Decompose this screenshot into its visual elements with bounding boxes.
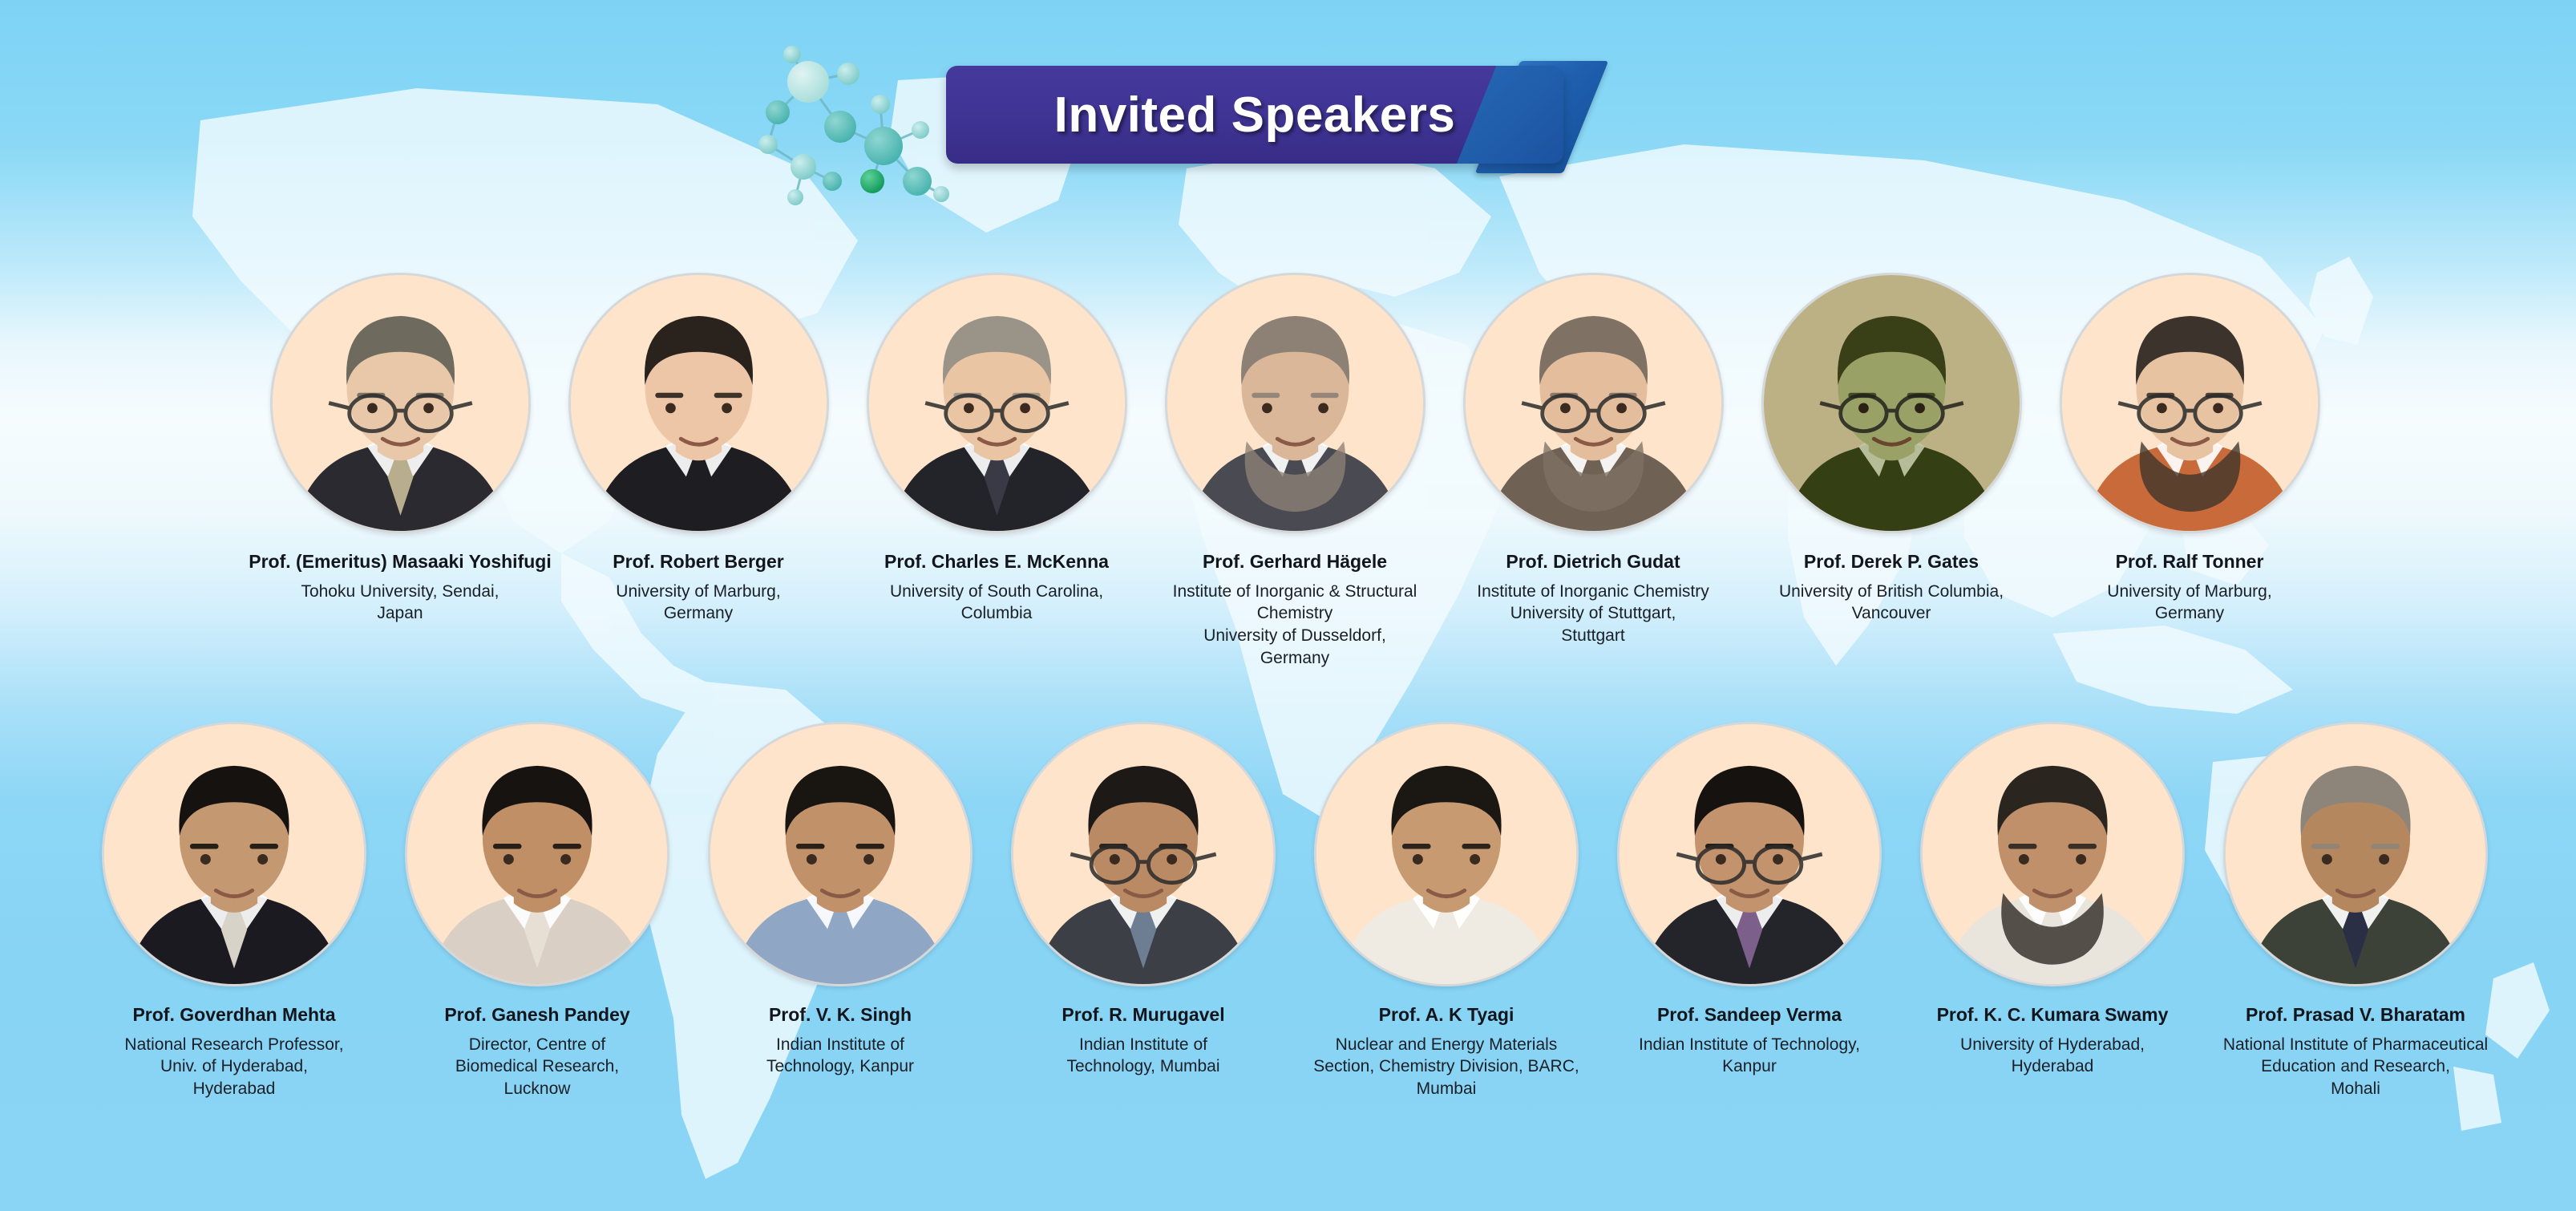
speaker-photo xyxy=(2060,273,2320,533)
speaker-photo xyxy=(708,722,973,986)
speaker-photo xyxy=(1761,273,2022,533)
speaker-affiliation-line: Vancouver xyxy=(1779,602,2004,625)
banner-body: Invited Speakers xyxy=(946,66,1563,164)
speaker-name: Prof. Ralf Tonner xyxy=(2116,551,2264,573)
speaker-name: Prof. Goverdhan Mehta xyxy=(132,1004,335,1027)
speaker-affiliation-line: Chemistry xyxy=(1173,602,1417,625)
speaker-photo xyxy=(1165,273,1425,533)
speaker-affiliation-line: Hyderabad xyxy=(124,1078,343,1100)
page-title: Invited Speakers xyxy=(1054,87,1456,144)
speaker-affiliation-line: University of Dusseldorf, xyxy=(1173,625,1417,647)
speaker-affiliation-line: National Research Professor, xyxy=(124,1034,343,1056)
speaker-affiliation: Tohoku University, Sendai,Japan xyxy=(301,581,499,625)
speaker-name: Prof. Dietrich Gudat xyxy=(1506,551,1680,573)
speaker-photo xyxy=(1617,722,1882,986)
speaker-affiliation-line: University of Stuttgart, xyxy=(1477,602,1709,625)
speaker-affiliation-line: University of Hyderabad, xyxy=(1960,1034,2145,1056)
speaker-photo xyxy=(270,273,531,533)
speaker-affiliation: Indian Institute ofTechnology, Kanpur xyxy=(766,1034,914,1078)
speaker-affiliation: National Research Professor,Univ. of Hyd… xyxy=(124,1034,343,1100)
speaker-photo xyxy=(568,273,829,533)
speaker-affiliation-line: Mohali xyxy=(2223,1078,2488,1100)
speaker-affiliation-line: Indian Institute of xyxy=(1066,1034,1219,1056)
speaker-photo xyxy=(102,722,366,986)
molecule-icon xyxy=(746,24,954,233)
speaker-name: Prof. V. K. Singh xyxy=(769,1004,912,1027)
speaker-photo xyxy=(1011,722,1276,986)
speaker-card: Prof. A. K TyagiNuclear and Energy Mater… xyxy=(1300,722,1593,1100)
speaker-name: Prof. Sandeep Verma xyxy=(1657,1004,1842,1027)
speaker-affiliation-line: Education and Research, xyxy=(2223,1055,2488,1078)
speaker-affiliation: Nuclear and Energy MaterialsSection, Che… xyxy=(1313,1034,1579,1100)
speaker-card: Prof. Derek P. GatesUniversity of Britis… xyxy=(1751,273,2032,625)
speaker-affiliation-line: Technology, Kanpur xyxy=(766,1055,914,1078)
speaker-photo xyxy=(867,273,1127,533)
speaker-affiliation-line: Indian Institute of xyxy=(766,1034,914,1056)
speaker-name: Prof. A. K Tyagi xyxy=(1379,1004,1514,1027)
speaker-photo xyxy=(1314,722,1579,986)
speaker-row-2: Prof. Goverdhan MehtaNational Research P… xyxy=(72,722,2517,1100)
speaker-affiliation-line: National Institute of Pharmaceutical xyxy=(2223,1034,2488,1056)
speaker-photo xyxy=(405,722,669,986)
speaker-affiliation-line: Institute of Inorganic Chemistry xyxy=(1477,581,1709,603)
speaker-card: Prof. Charles E. McKennaUniversity of So… xyxy=(856,273,1137,625)
speaker-name: Prof. Charles E. McKenna xyxy=(884,551,1109,573)
speaker-card: Prof. Goverdhan MehtaNational Research P… xyxy=(87,722,381,1100)
speaker-affiliation-line: Mumbai xyxy=(1313,1078,1579,1100)
speaker-name: Prof. K. C. Kumara Swamy xyxy=(1937,1004,2169,1027)
speaker-affiliation-line: Tohoku University, Sendai, xyxy=(301,581,499,603)
speaker-name: Prof. Ganesh Pandey xyxy=(444,1004,629,1027)
speaker-affiliation: University of Hyderabad,Hyderabad xyxy=(1960,1034,2145,1078)
speaker-affiliation-line: Germany xyxy=(1173,647,1417,670)
speaker-card: Prof. (Emeritus) Masaaki YoshifugiTohoku… xyxy=(260,273,540,625)
speaker-affiliation-line: Stuttgart xyxy=(1477,625,1709,647)
speaker-card: Prof. Ganesh PandeyDirector, Centre ofBi… xyxy=(390,722,684,1100)
speaker-affiliation-line: Section, Chemistry Division, BARC, xyxy=(1313,1055,1579,1078)
speaker-card: Prof. Prasad V. BharatamNational Institu… xyxy=(2209,722,2502,1100)
speaker-affiliation-line: Lucknow xyxy=(455,1078,619,1100)
speaker-name: Prof. Prasad V. Bharatam xyxy=(2246,1004,2465,1027)
speaker-affiliation-line: University of British Columbia, xyxy=(1779,581,2004,603)
speaker-name: Prof. (Emeritus) Masaaki Yoshifugi xyxy=(249,551,551,573)
speaker-card: Prof. R. MurugavelIndian Institute ofTec… xyxy=(997,722,1290,1078)
page-title-banner: Invited Speakers xyxy=(946,66,1579,164)
speaker-affiliation-line: University of South Carolina, xyxy=(890,581,1103,603)
speaker-photo xyxy=(1463,273,1724,533)
speaker-affiliation-line: Germany xyxy=(616,602,780,625)
speaker-affiliation-line: Hyderabad xyxy=(1960,1055,2145,1078)
speaker-affiliation-line: Indian Institute of Technology, xyxy=(1639,1034,1860,1056)
speaker-affiliation-line: Kanpur xyxy=(1639,1055,1860,1078)
speaker-name: Prof. Robert Berger xyxy=(613,551,783,573)
speaker-card: Prof. Sandeep VermaIndian Institute of T… xyxy=(1603,722,1896,1078)
speaker-affiliation: University of South Carolina,Columbia xyxy=(890,581,1103,625)
speaker-affiliation: University of Marburg,Germany xyxy=(2107,581,2271,625)
speaker-affiliation-line: Biomedical Research, xyxy=(455,1055,619,1078)
speaker-card: Prof. Ralf TonnerUniversity of Marburg,G… xyxy=(2049,273,2330,625)
speaker-affiliation: Director, Centre ofBiomedical Research,L… xyxy=(455,1034,619,1100)
speaker-affiliation-line: Univ. of Hyderabad, xyxy=(124,1055,343,1078)
speaker-affiliation-line: Germany xyxy=(2107,602,2271,625)
speaker-affiliation-line: Technology, Mumbai xyxy=(1066,1055,1219,1078)
speaker-photo xyxy=(2223,722,2488,986)
speaker-affiliation: National Institute of PharmaceuticalEduc… xyxy=(2223,1034,2488,1100)
speaker-affiliation-line: University of Marburg, xyxy=(616,581,780,603)
speaker-name: Prof. Gerhard Hägele xyxy=(1203,551,1387,573)
speaker-affiliation-line: Nuclear and Energy Materials xyxy=(1313,1034,1579,1056)
speaker-affiliation: Indian Institute ofTechnology, Mumbai xyxy=(1066,1034,1219,1078)
invited-speakers-poster: Invited Speakers xyxy=(0,0,2576,1211)
speaker-name: Prof. Derek P. Gates xyxy=(1804,551,1979,573)
speaker-affiliation: Indian Institute of Technology,Kanpur xyxy=(1639,1034,1860,1078)
speaker-name: Prof. R. Murugavel xyxy=(1062,1004,1224,1027)
speaker-card: Prof. Dietrich GudatInstitute of Inorgan… xyxy=(1453,273,1733,647)
speaker-affiliation: University of Marburg,Germany xyxy=(616,581,780,625)
speaker-card: Prof. Gerhard HägeleInstitute of Inorgan… xyxy=(1155,273,1435,669)
speaker-card: Prof. V. K. SinghIndian Institute ofTech… xyxy=(694,722,987,1078)
speaker-affiliation-line: Japan xyxy=(301,602,499,625)
speaker-photo xyxy=(1920,722,2185,986)
speaker-row-1: Prof. (Emeritus) Masaaki YoshifugiTohoku… xyxy=(144,273,2445,669)
speaker-affiliation: University of British Columbia,Vancouver xyxy=(1779,581,2004,625)
speaker-affiliation: Institute of Inorganic ChemistryUniversi… xyxy=(1477,581,1709,647)
speaker-affiliation-line: University of Marburg, xyxy=(2107,581,2271,603)
speaker-affiliation-line: Columbia xyxy=(890,602,1103,625)
speaker-affiliation-line: Institute of Inorganic & Structural xyxy=(1173,581,1417,603)
speaker-card: Prof. Robert BergerUniversity of Marburg… xyxy=(558,273,839,625)
speaker-affiliation: Institute of Inorganic & StructuralChemi… xyxy=(1173,581,1417,670)
speaker-affiliation-line: Director, Centre of xyxy=(455,1034,619,1056)
speaker-card: Prof. K. C. Kumara SwamyUniversity of Hy… xyxy=(1906,722,2199,1078)
